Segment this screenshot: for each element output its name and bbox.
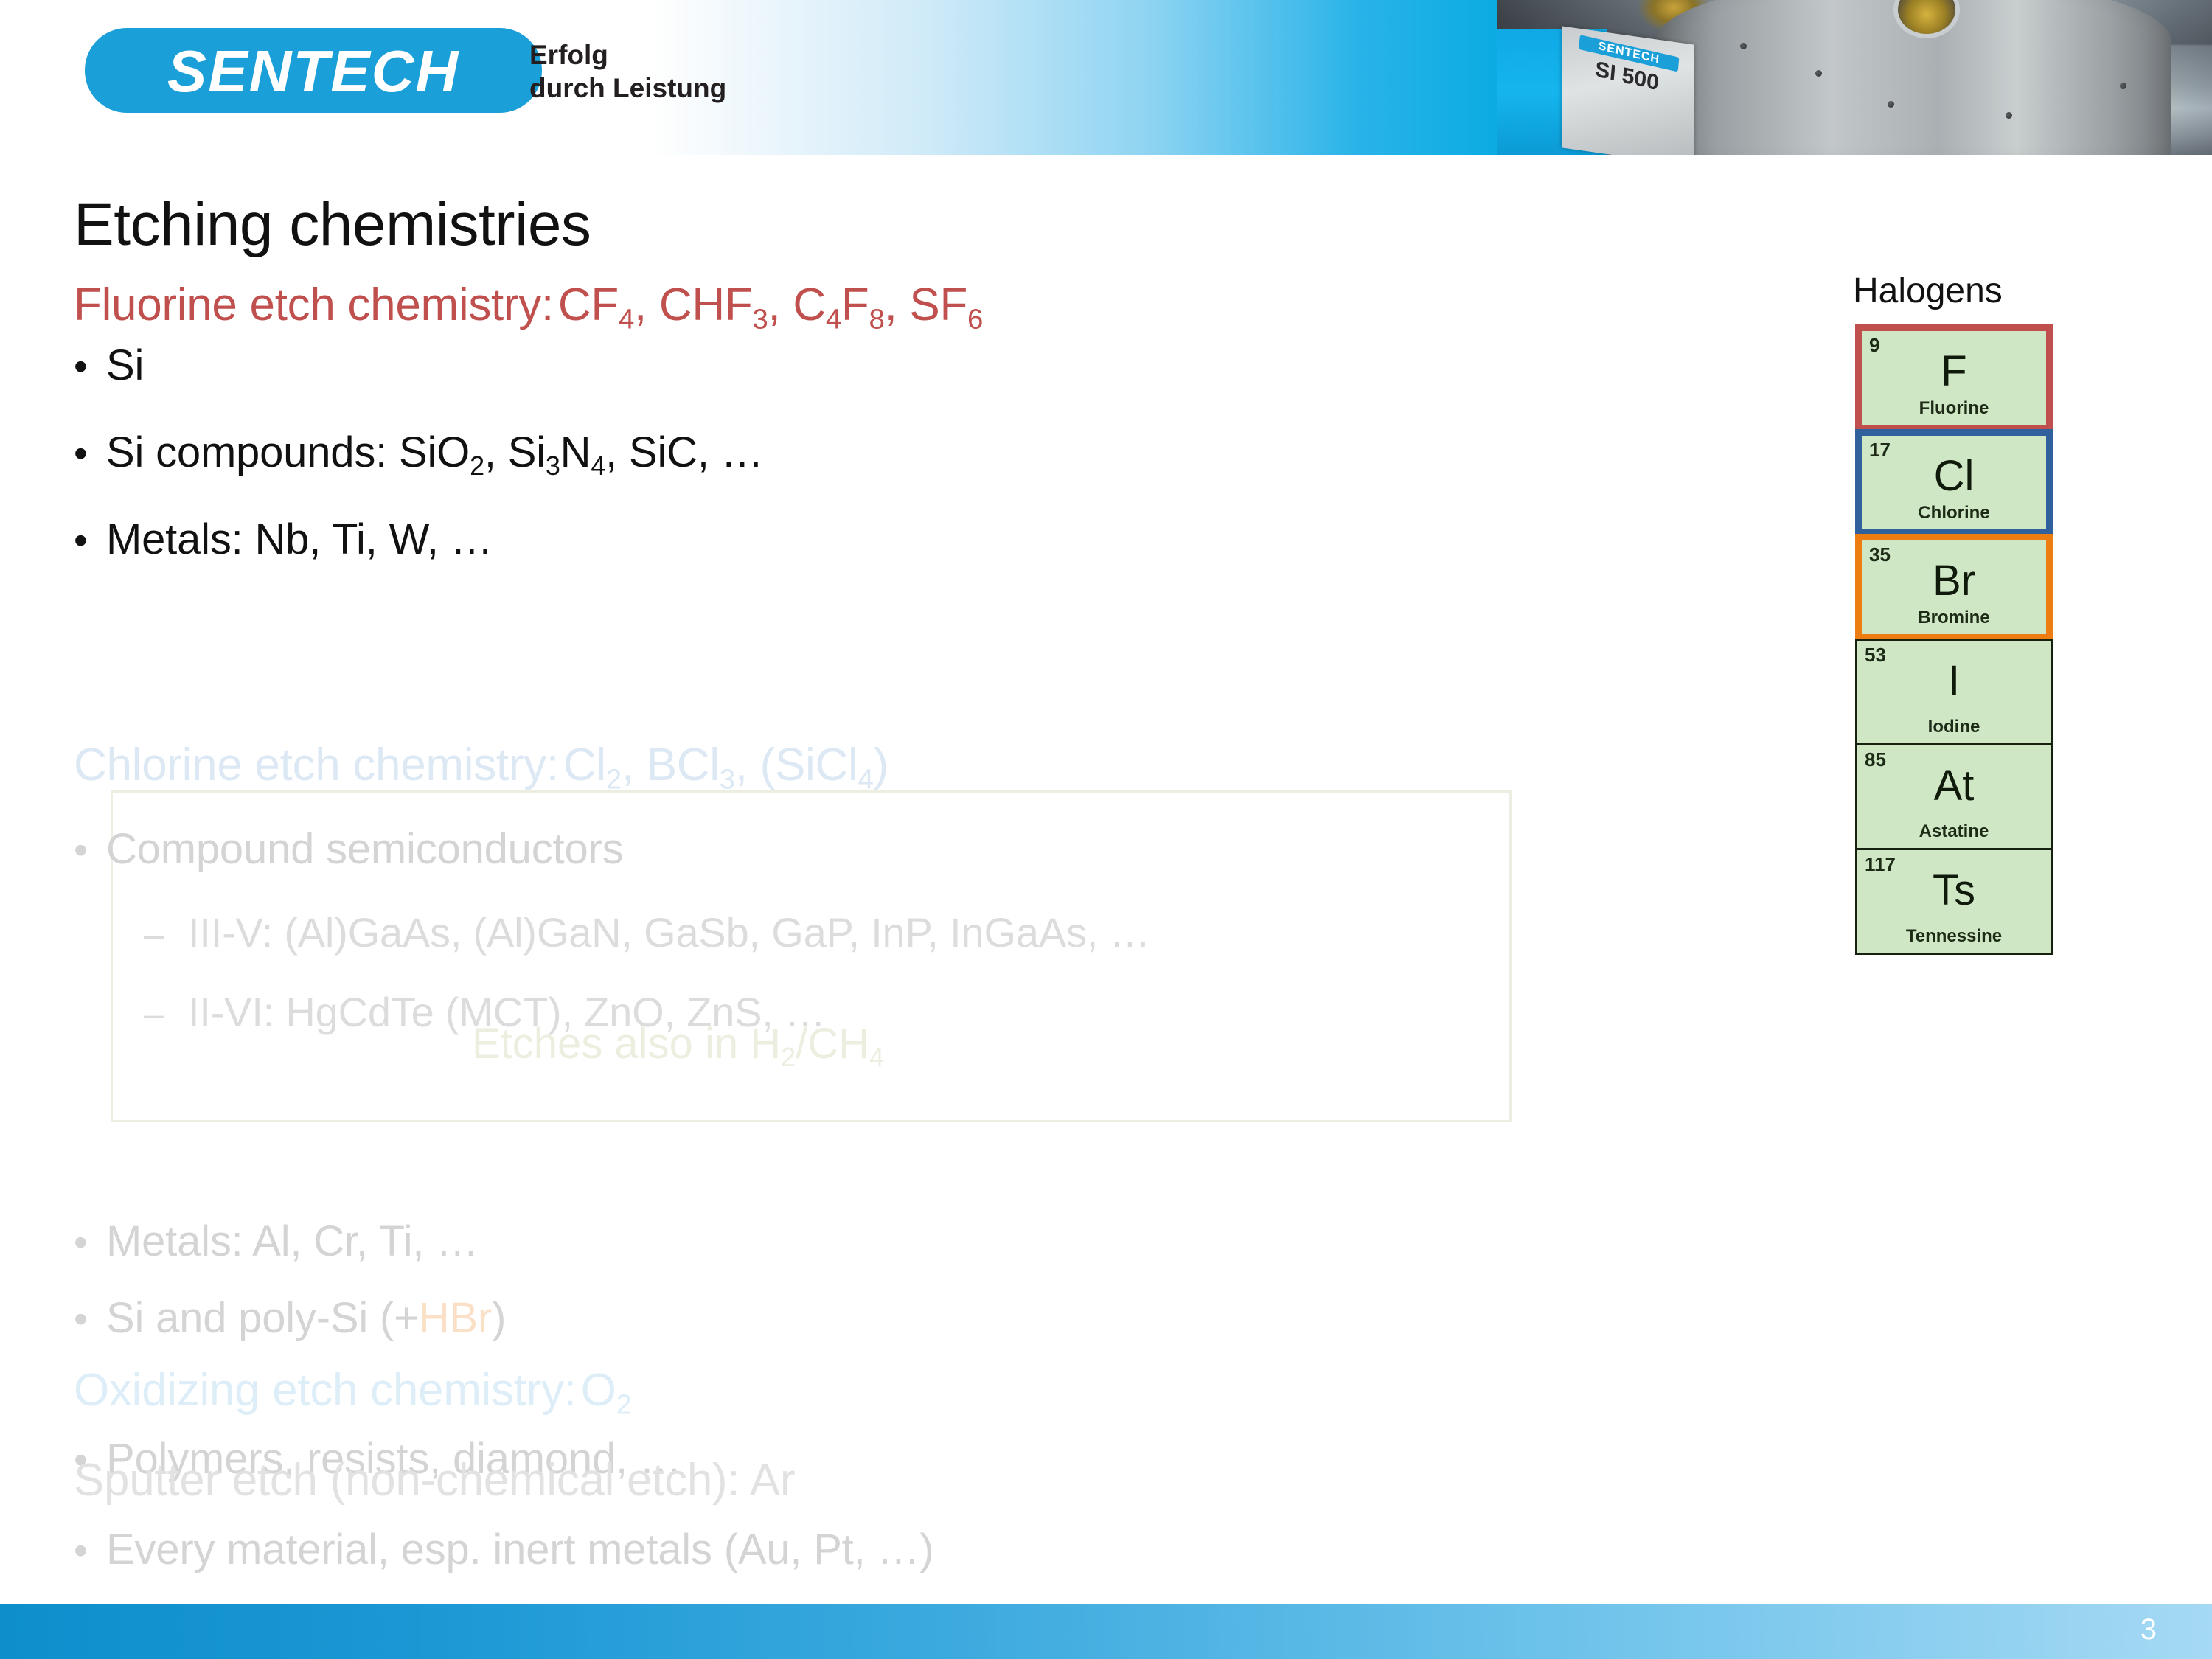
bullet-marker-icon: • — [74, 1222, 106, 1262]
element-symbol: Ts — [1857, 869, 2051, 912]
list-item-label: Si — [106, 341, 144, 390]
bullet-marker-icon: • — [74, 434, 106, 473]
section-formula-fluorine: CF4, CHF3, C4F8, SF6 — [558, 279, 983, 330]
element-name: Fluorine — [1862, 398, 2046, 419]
section-label-chlorine: Chlorine etch chemistry: — [74, 740, 559, 790]
element-cell-at: 85AtAstatine — [1855, 743, 2053, 850]
list-item: • Compound semiconductors — [74, 824, 623, 874]
element-name: Chlorine — [1862, 503, 2046, 524]
logo-tagline: Erfolg durch Leistung — [529, 38, 726, 105]
logo-tagline-line1: Erfolg — [529, 38, 726, 72]
element-name: Bromine — [1862, 608, 2046, 628]
element-symbol: Cl — [1862, 455, 2046, 498]
element-cell-br: 35BrBromine — [1855, 534, 2053, 641]
list-item: • Metals: Al, Cr, Ti, … — [74, 1217, 479, 1266]
photo-screw — [2120, 83, 2126, 89]
list-item: • Si — [74, 341, 144, 390]
header-machine-photo: SENTECH SI 500 — [1497, 0, 2212, 155]
svg-text:SENTECH: SENTECH — [167, 38, 459, 104]
list-item-sub-label: III-V: (Al)GaAs, (Al)GaN, GaSb, GaP, InP… — [188, 908, 1150, 956]
element-symbol: F — [1862, 350, 2046, 393]
list-item-label: Metals: Al, Cr, Ti, … — [106, 1217, 479, 1266]
element-symbol: Br — [1862, 560, 2046, 602]
photo-screw — [1740, 43, 1747, 49]
bullet-marker-icon: • — [74, 347, 106, 386]
section-formula-chlorine: Cl2, BCl3, (SiCl4) — [563, 740, 888, 790]
list-item-label: Every material, esp. inert metals (Au, P… — [106, 1525, 933, 1574]
halogens-title: Halogens — [1853, 271, 2003, 311]
section-heading-fluorine: Fluorine etch chemistry:CF4, CHF3, C4F8,… — [74, 279, 983, 336]
list-item: • Si compounds: SiO2, Si3N4, SiC, … — [74, 428, 763, 481]
element-name: Astatine — [1857, 821, 2051, 842]
highlight-hbr: HBr — [419, 1294, 492, 1342]
list-item-label: Si compounds: SiO2, Si3N4, SiC, … — [106, 428, 763, 481]
element-cell-cl: 17ClChlorine — [1855, 429, 2053, 536]
dash-marker-icon: – — [144, 916, 188, 953]
section-heading-chlorine: Chlorine etch chemistry:Cl2, BCl3, (SiCl… — [74, 739, 888, 796]
list-item: • Every material, esp. inert metals (Au,… — [74, 1525, 933, 1574]
sentech-logo: SENTECH — [85, 28, 542, 113]
etches-also-note: Etches also in H2/CH4 — [472, 1019, 884, 1073]
element-cell-i: 53IIodine — [1855, 639, 2053, 745]
element-symbol: At — [1857, 765, 2051, 807]
bullet-marker-icon: • — [74, 830, 106, 870]
slide-header-banner: SENTECH SI 500 SENTECH Erfolg durch Leis… — [0, 0, 2212, 155]
logo-tagline-line2: durch Leistung — [529, 72, 726, 105]
bullet-marker-icon: • — [74, 1531, 106, 1571]
page-title: Etching chemistries — [74, 190, 591, 260]
photo-screw — [1815, 70, 1822, 77]
element-cell-ts: 117TsTennessine — [1855, 848, 2053, 955]
list-item-label: Compound semiconductors — [106, 824, 623, 874]
section-formula-oxidizing: O2 — [581, 1365, 632, 1416]
list-item-sub: – III-V: (Al)GaAs, (Al)GaN, GaSb, GaP, I… — [144, 908, 1150, 956]
section-label-oxidizing: Oxidizing etch chemistry: — [74, 1365, 577, 1416]
dash-marker-icon: – — [144, 995, 188, 1032]
element-cell-f: 9FFluorine — [1855, 324, 2053, 431]
section-heading-sputter: Sputter etch (non-chemical etch): Ar — [74, 1454, 795, 1506]
section-label-fluorine: Fluorine etch chemistry: — [74, 279, 554, 330]
element-name: Tennessine — [1857, 926, 2051, 947]
page-number: 3 — [2140, 1613, 2157, 1646]
slide-content: Etching chemistries Fluorine etch chemis… — [0, 155, 2212, 1578]
list-item: • Metals: Nb, Ti, W, … — [74, 515, 493, 564]
list-item-label: Metals: Nb, Ti, W, … — [106, 515, 493, 564]
element-name: Iodine — [1857, 717, 2051, 737]
halogens-periodic-column: 9FFluorine17ClChlorine35BrBromine53IIodi… — [1855, 324, 2053, 953]
element-symbol: I — [1857, 660, 2051, 703]
bullet-marker-icon: • — [74, 1299, 106, 1339]
bullet-marker-icon: • — [74, 521, 106, 560]
photo-screw — [2006, 112, 2012, 119]
list-item-label: Si and poly-Si (+HBr) — [106, 1293, 506, 1343]
photo-screw — [1888, 101, 1894, 108]
list-item: • Si and poly-Si (+HBr) — [74, 1293, 506, 1343]
section-heading-oxidizing: Oxidizing etch chemistry:O2 — [74, 1364, 632, 1422]
slide-footer: 3 — [0, 1604, 2212, 1659]
